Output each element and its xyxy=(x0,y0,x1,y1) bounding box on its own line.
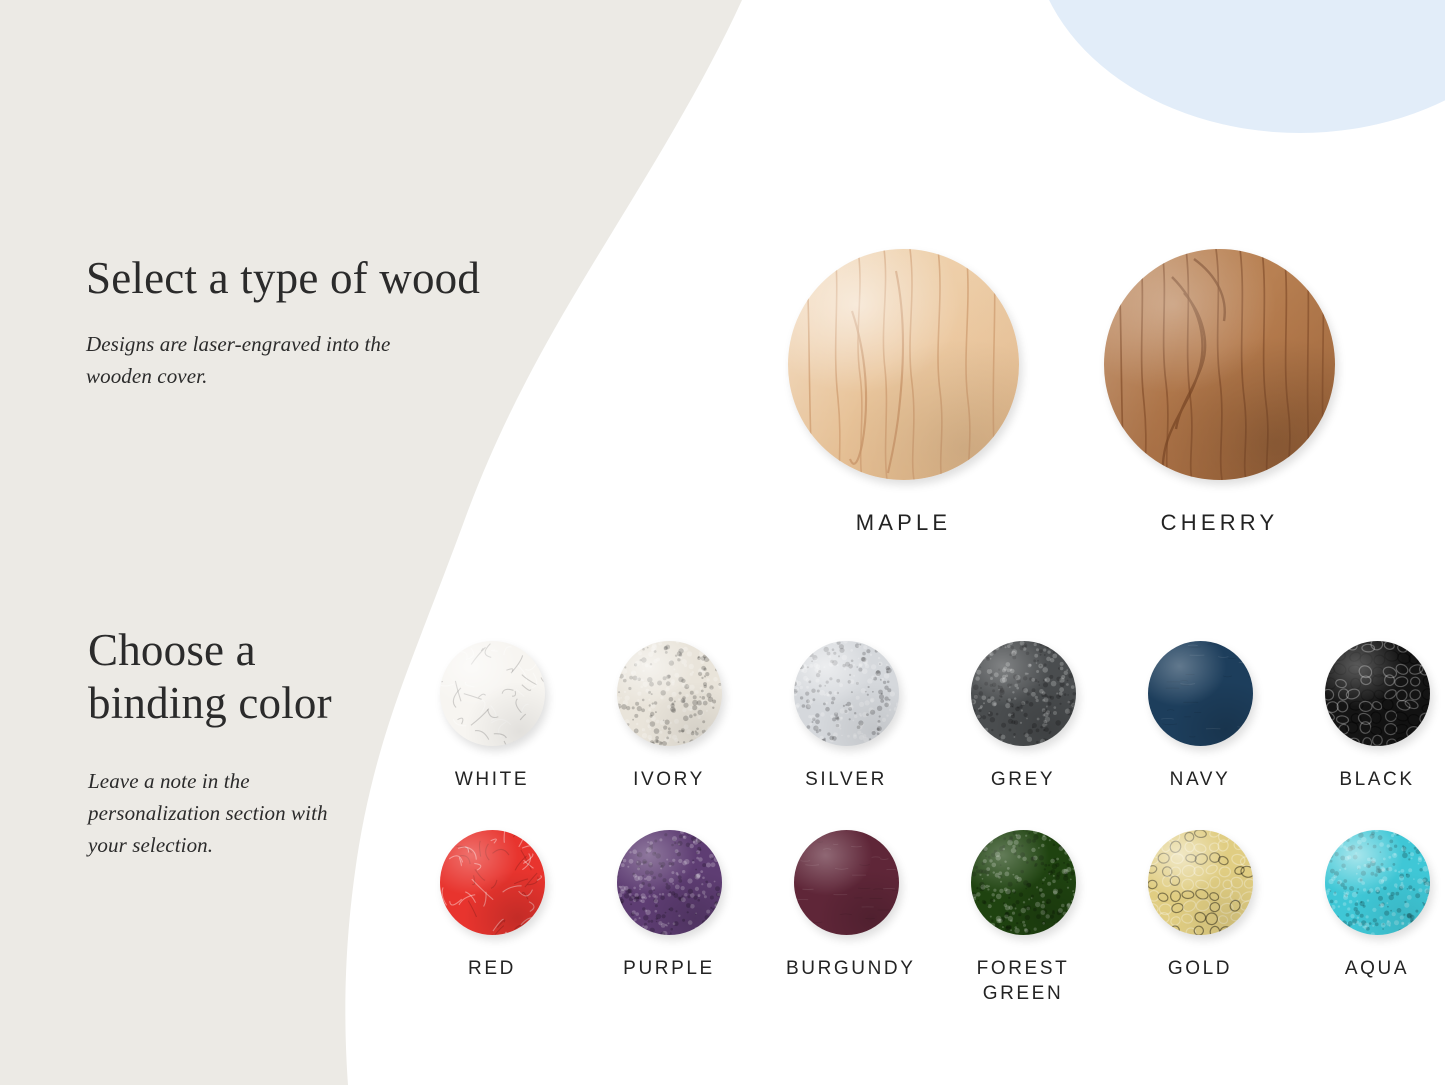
leather-texture-pebble-icon xyxy=(617,641,722,746)
leather-texture-pebble-icon xyxy=(794,641,899,746)
wood-section-heading: Select a type of wood xyxy=(86,252,506,305)
color-swatch-row-1: WHITEIVORYSILVERGREYNAVYBLACK xyxy=(432,641,1437,792)
purple-disc[interactable] xyxy=(617,830,722,935)
color-swatch-burgundy[interactable]: BURGUNDY xyxy=(786,830,906,1006)
leather-texture-crinkle-icon xyxy=(440,830,545,935)
maple-grain-icon xyxy=(788,249,1019,480)
color-swatch-ivory[interactable]: IVORY xyxy=(609,641,729,792)
maple-label: MAPLE xyxy=(856,510,952,536)
color-swatch-white[interactable]: WHITE xyxy=(432,641,552,792)
color-section-subtext: Leave a note in the personalization sect… xyxy=(88,766,338,862)
color-swatch-grey[interactable]: GREY xyxy=(963,641,1083,792)
color-swatch-purple[interactable]: PURPLE xyxy=(609,830,729,1006)
leather-texture-pebble-icon xyxy=(971,830,1076,935)
color-label: GOLD xyxy=(1140,956,1260,981)
color-swatch-black[interactable]: BLACK xyxy=(1317,641,1437,792)
wood-swatch-row: MAPLE xyxy=(788,249,1335,536)
burgundy-disc[interactable] xyxy=(794,830,899,935)
wood-section-text: Select a type of wood Designs are laser-… xyxy=(86,252,506,393)
wood-swatch-cherry[interactable]: CHERRY xyxy=(1104,249,1335,536)
color-section-heading: Choose a binding color xyxy=(88,624,388,730)
leather-texture-crinkle-icon xyxy=(440,641,545,746)
leather-texture-smooth-icon xyxy=(1148,641,1253,746)
blue-blob-shape xyxy=(1032,0,1445,133)
color-heading-line-1: Choose a xyxy=(88,625,256,675)
leather-texture-pebble-icon xyxy=(971,641,1076,746)
product-options-panel: Select a type of wood Designs are laser-… xyxy=(0,0,1445,1085)
wood-section-subtext: Designs are laser-engraved into the wood… xyxy=(86,329,456,393)
color-label: PURPLE xyxy=(609,956,729,981)
cherry-disc[interactable] xyxy=(1104,249,1335,480)
leather-texture-croc-icon xyxy=(1325,641,1430,746)
color-label: IVORY xyxy=(609,767,729,792)
color-swatch-silver[interactable]: SILVER xyxy=(786,641,906,792)
color-label: NAVY xyxy=(1140,767,1260,792)
color-label: GREY xyxy=(963,767,1083,792)
ivory-disc[interactable] xyxy=(617,641,722,746)
navy-disc[interactable] xyxy=(1148,641,1253,746)
color-swatch-red[interactable]: RED xyxy=(432,830,552,1006)
color-label: RED xyxy=(432,956,552,981)
leather-texture-croc-icon xyxy=(1148,830,1253,935)
leather-texture-pebble-icon xyxy=(617,830,722,935)
cherry-label: CHERRY xyxy=(1161,510,1279,536)
color-swatch-forest-green[interactable]: FOREST GREEN xyxy=(963,830,1083,1006)
color-swatch-aqua[interactable]: AQUA xyxy=(1317,830,1437,1006)
color-label: WHITE xyxy=(432,767,552,792)
grey-disc[interactable] xyxy=(971,641,1076,746)
forest-green-disc[interactable] xyxy=(971,830,1076,935)
color-label: SILVER xyxy=(786,767,906,792)
leather-texture-pebble-icon xyxy=(1325,830,1430,935)
color-heading-line-2: binding color xyxy=(88,678,332,728)
gold-disc[interactable] xyxy=(1148,830,1253,935)
color-label: AQUA xyxy=(1317,956,1437,981)
wood-swatch-maple[interactable]: MAPLE xyxy=(788,249,1019,536)
color-swatch-navy[interactable]: NAVY xyxy=(1140,641,1260,792)
color-section-text: Choose a binding color Leave a note in t… xyxy=(88,624,388,862)
leather-texture-smooth-icon xyxy=(794,830,899,935)
white-disc[interactable] xyxy=(440,641,545,746)
color-label: BLACK xyxy=(1317,767,1437,792)
aqua-disc[interactable] xyxy=(1325,830,1430,935)
color-label: BURGUNDY xyxy=(786,956,906,981)
silver-disc[interactable] xyxy=(794,641,899,746)
color-label: FOREST GREEN xyxy=(963,956,1083,1006)
color-swatch-row-2: REDPURPLEBURGUNDYFOREST GREENGOLDAQUA xyxy=(432,830,1437,1006)
red-disc[interactable] xyxy=(440,830,545,935)
maple-disc[interactable] xyxy=(788,249,1019,480)
cherry-grain-icon xyxy=(1104,249,1335,480)
black-disc[interactable] xyxy=(1325,641,1430,746)
color-swatch-gold[interactable]: GOLD xyxy=(1140,830,1260,1006)
